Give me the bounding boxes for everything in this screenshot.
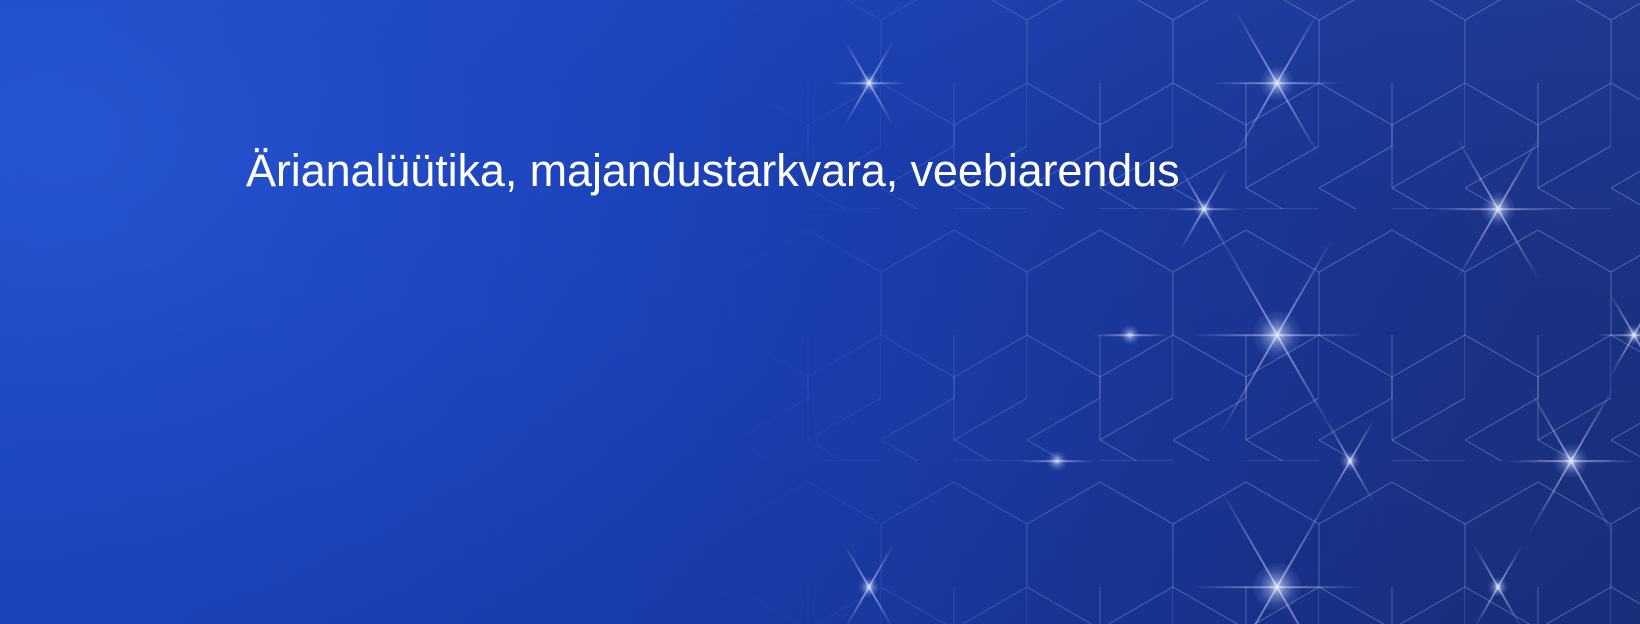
- hero-banner: Ärianalüütika, majandustarkvara, veebiar…: [0, 0, 1640, 624]
- hero-content: Ärianalüütika, majandustarkvara, veebiar…: [0, 0, 1640, 624]
- hero-headline: Ärianalüütika, majandustarkvara, veebiar…: [246, 144, 1180, 197]
